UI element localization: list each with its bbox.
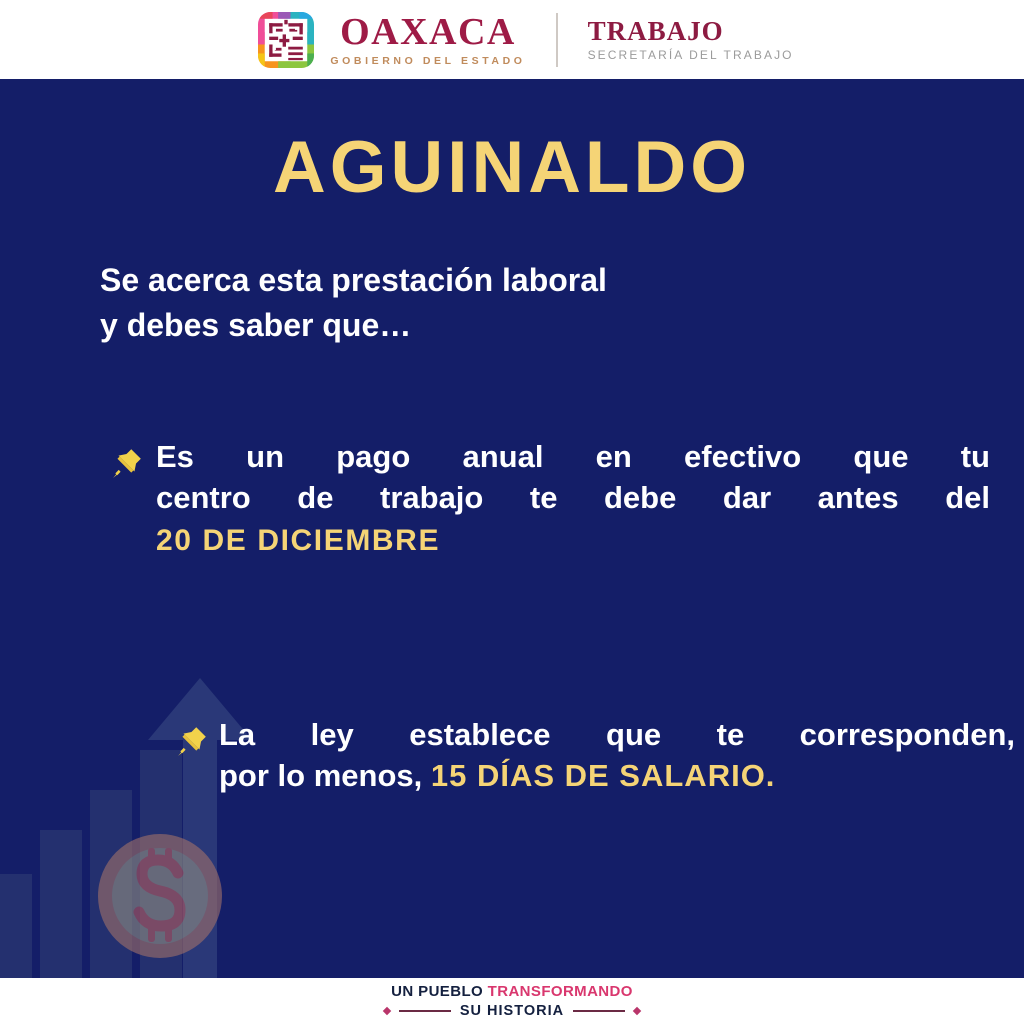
- trabajo-subtitle: SECRETARÍA DEL TRABAJO: [588, 49, 794, 61]
- logo-divider: [556, 13, 558, 67]
- left-rule: [399, 1010, 451, 1012]
- page-title: AGUINALDO: [0, 131, 1024, 204]
- slogan-su-historia: SU HISTORIA: [460, 1004, 564, 1019]
- poster-canvas: OAXACA GOBIERNO DEL ESTADO TRABAJO SECRE…: [0, 0, 1024, 1024]
- right-diamond-icon: [633, 1007, 641, 1015]
- pushpin-icon: [175, 724, 209, 758]
- bullet-line-2: por lo menos, 15 DÍAS DE SALARIO.: [219, 755, 1015, 796]
- bullet-item: La ley establece que te corresponden, po…: [175, 714, 1015, 796]
- oaxaca-grecas-emblem-icon: [258, 12, 314, 68]
- bullet-body: La ley establece que te corresponden, po…: [219, 714, 1015, 796]
- right-rule: [573, 1010, 625, 1012]
- growth-bar-chart-icon: [0, 750, 182, 978]
- slogan-part-2: TRANSFORMANDO: [488, 983, 633, 1000]
- bullet-line-2-plain: por lo menos,: [219, 758, 431, 793]
- lede-line-1: Se acerca esta prestación laboral: [100, 258, 840, 303]
- bullet-line-1: La ley establece que te corresponden,: [219, 714, 1015, 755]
- slogan-line-2: SU HISTORIA: [384, 1004, 640, 1019]
- slogan-line-1: UN PUEBLO TRANSFORMANDO: [391, 984, 633, 999]
- oaxaca-word: OAXACA: [340, 13, 516, 51]
- oaxaca-subtitle: GOBIERNO DEL ESTADO: [330, 56, 525, 67]
- government-logo-lockup: OAXACA GOBIERNO DEL ESTADO TRABAJO SECRE…: [258, 12, 793, 68]
- slogan-part-1: UN PUEBLO: [391, 983, 488, 1000]
- lede-line-2: y debes saber que…: [100, 303, 840, 348]
- main-content-panel: AGUINALDO Se acerca esta prestación labo…: [0, 79, 1024, 978]
- bullet-item: Es un pago anual en efectivo que tu cent…: [110, 436, 990, 563]
- lede-paragraph: Se acerca esta prestación laboral y debe…: [100, 258, 840, 349]
- header-band: OAXACA GOBIERNO DEL ESTADO TRABAJO SECRE…: [0, 0, 1024, 79]
- bullet-line-2-emphasis: 15 DÍAS DE SALARIO.: [431, 758, 776, 793]
- trabajo-word: TRABAJO: [588, 18, 724, 45]
- pushpin-icon: [110, 446, 144, 480]
- bullet-line-1: Es un pago anual en efectivo que tu: [156, 436, 990, 477]
- dollar-coin-icon: [98, 834, 222, 958]
- bullet-emphasis: 20 DE DICIEMBRE: [156, 518, 990, 563]
- oaxaca-wordmark: OAXACA GOBIERNO DEL ESTADO: [330, 13, 525, 67]
- left-diamond-icon: [383, 1007, 391, 1015]
- footer-band: UN PUEBLO TRANSFORMANDO SU HISTORIA: [0, 978, 1024, 1024]
- trabajo-wordmark: TRABAJO SECRETARÍA DEL TRABAJO: [588, 18, 794, 61]
- bullet-body: Es un pago anual en efectivo que tu cent…: [156, 436, 990, 563]
- bullet-line-2: centro de trabajo te debe dar antes del: [156, 477, 990, 518]
